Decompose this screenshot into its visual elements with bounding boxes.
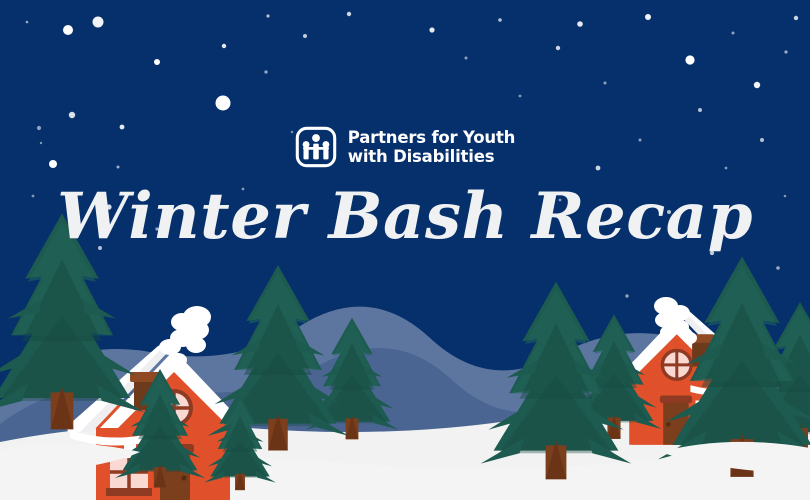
star xyxy=(754,82,760,88)
star xyxy=(639,139,642,142)
star xyxy=(794,16,798,20)
star xyxy=(577,21,583,27)
brand-name: Partners for Youth with Disabilities xyxy=(348,128,515,167)
star xyxy=(498,18,502,22)
brand-name-line-2: with Disabilities xyxy=(348,147,515,166)
star xyxy=(120,125,125,130)
star xyxy=(556,46,560,50)
page-title: Winter Bash Recap xyxy=(0,185,810,249)
star xyxy=(604,82,607,85)
star xyxy=(429,27,434,32)
star xyxy=(63,25,73,35)
star xyxy=(725,167,728,170)
star xyxy=(465,57,468,60)
star xyxy=(732,32,735,35)
star xyxy=(26,21,29,24)
star xyxy=(266,14,269,17)
star xyxy=(49,160,57,168)
star xyxy=(222,44,226,48)
star xyxy=(303,34,307,38)
star xyxy=(698,108,702,112)
star xyxy=(291,131,294,134)
star xyxy=(216,96,231,111)
star xyxy=(264,70,267,73)
star xyxy=(37,126,41,130)
star xyxy=(519,95,522,98)
star xyxy=(776,266,780,270)
pyd-logo-icon xyxy=(295,126,337,168)
star xyxy=(117,166,120,169)
star xyxy=(40,142,42,144)
star xyxy=(784,50,787,53)
star xyxy=(685,55,694,64)
star xyxy=(760,138,764,142)
star xyxy=(69,112,75,118)
star xyxy=(154,59,160,65)
star xyxy=(93,17,104,28)
winter-bash-recap-graphic: Partners for Youth with Disabilities Win… xyxy=(0,0,810,500)
star xyxy=(625,294,628,297)
star xyxy=(645,14,651,20)
brand-name-line-1: Partners for Youth xyxy=(348,128,515,147)
star xyxy=(596,166,601,171)
star xyxy=(347,12,351,16)
